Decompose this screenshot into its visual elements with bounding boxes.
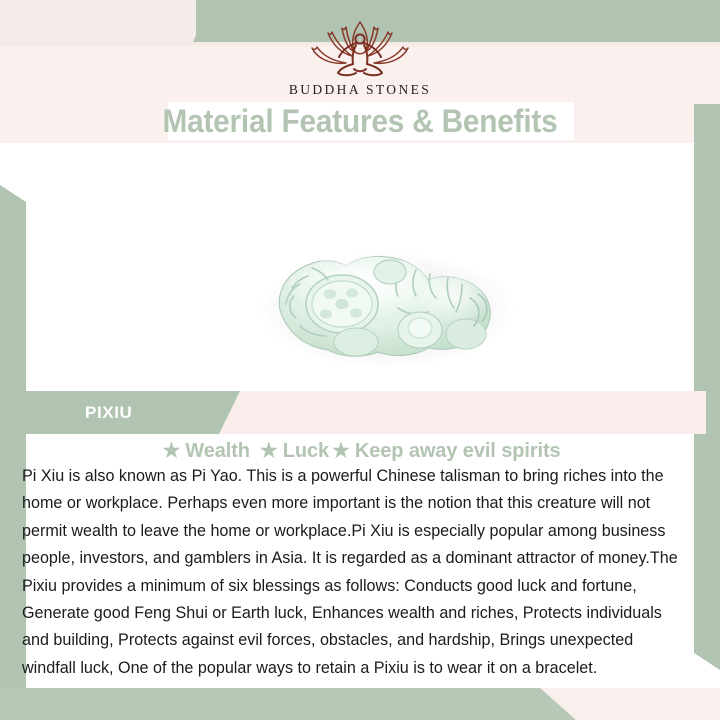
benefit-item: ★ Wealth	[159, 440, 249, 463]
benefit-item: ★ Luck	[257, 440, 329, 463]
star-icon: ★	[162, 441, 180, 461]
star-icon: ★	[332, 441, 350, 461]
description-text: Pi Xiu is also known as Pi Yao. This is …	[22, 463, 678, 682]
product-image-area	[26, 148, 694, 388]
benefit-label: Wealth	[185, 440, 250, 463]
page-title: Material Features & Benefits	[25, 100, 695, 142]
page-header: BUDDHA STONES Material Features & Benefi…	[0, 0, 720, 148]
benefit-label: Luck	[283, 440, 329, 463]
brand-logo: BUDDHA STONES	[0, 18, 720, 98]
benefits-row: ★ Wealth ★ Luck ★ Keep away evil spirits	[0, 437, 720, 465]
product-name-label: PIXIU	[85, 391, 132, 434]
jade-pixiu-carving	[252, 238, 522, 368]
lotus-meditation-icon	[290, 18, 430, 80]
brand-name: BUDDHA STONES	[289, 82, 431, 98]
right-green-bar	[694, 104, 720, 670]
benefit-label: Keep away evil spirits	[355, 440, 561, 463]
benefit-item: ★ Keep away evil spirits	[329, 440, 561, 463]
product-name-banner: PIXIU	[0, 391, 720, 434]
star-icon: ★	[260, 441, 278, 461]
infographic-page: BUDDHA STONES Material Features & Benefi…	[0, 0, 720, 720]
